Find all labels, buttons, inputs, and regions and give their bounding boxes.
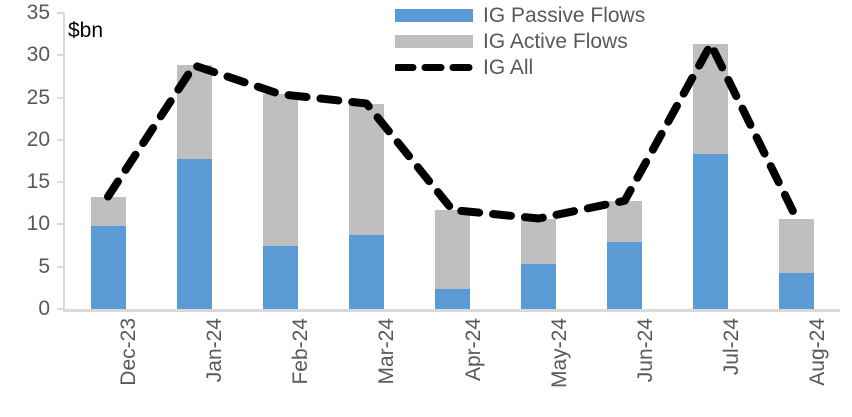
bar-group (607, 201, 642, 309)
y-tick-label: 25 (4, 87, 50, 108)
bar-segment-passive (779, 273, 814, 309)
x-tick-label: Aug-24 (807, 318, 828, 386)
x-tick-label: Jan-24 (204, 318, 225, 382)
bar-group (693, 44, 728, 309)
bar-segment-active (177, 65, 212, 159)
bar-segment-active (693, 44, 728, 154)
bar-segment-active (349, 104, 384, 235)
y-tick-label: 10 (4, 213, 50, 234)
bar-segment-passive (521, 264, 556, 309)
bar-segment-active (607, 201, 642, 242)
legend-item-ig-passive-flows: IG Passive Flows (395, 2, 695, 28)
x-tick-label: Mar-24 (376, 318, 397, 385)
bar-segment-passive (177, 159, 212, 309)
chart-legend: IG Passive Flows IG Active Flows IG All (395, 2, 695, 80)
x-tick-label: Feb-24 (290, 318, 311, 385)
bar-segment-passive (263, 246, 298, 309)
bar-group (779, 219, 814, 309)
bar-group (435, 210, 470, 309)
x-tick-label: Dec-23 (118, 318, 139, 386)
y-tick-label: 30 (4, 44, 50, 65)
bar-segment-passive (91, 226, 126, 309)
y-tick-label: 20 (4, 129, 50, 150)
x-tick-label: May-24 (549, 318, 570, 388)
bar-group (521, 219, 556, 309)
bar-segment-passive (435, 289, 470, 309)
x-tick-label: Jul-24 (721, 318, 742, 375)
bar-segment-active (263, 94, 298, 246)
bar-segment-passive (693, 154, 728, 309)
bar-group (349, 104, 384, 310)
bar-segment-passive (607, 242, 642, 309)
legend-swatch-gray-icon (395, 35, 473, 48)
bar-segment-active (779, 219, 814, 273)
bar-group (177, 65, 212, 309)
bar-segment-active (521, 219, 556, 265)
x-axis-line (63, 309, 840, 312)
legend-item-ig-active-flows: IG Active Flows (395, 28, 695, 54)
legend-label: IG Passive Flows (483, 5, 645, 26)
bar-group (91, 197, 126, 309)
legend-label: IG Active Flows (483, 31, 628, 52)
x-tick-label: Apr-24 (463, 318, 484, 381)
y-tick-label: 0 (4, 298, 50, 319)
legend-label: IG All (483, 57, 533, 78)
y-tick-label: 35 (4, 2, 50, 23)
bar-segment-active (435, 210, 470, 289)
y-tick-label: 5 (4, 256, 50, 277)
x-tick-label: Jun-24 (635, 318, 656, 382)
y-tick-label: 15 (4, 171, 50, 192)
bar-group (263, 94, 298, 309)
bar-segment-passive (349, 235, 384, 309)
legend-swatch-blue-icon (395, 9, 473, 22)
legend-dashed-line-icon (395, 61, 473, 74)
bar-segment-active (91, 197, 126, 227)
chart-container: 35302520151050 $bn Dec-23Jan-24Feb-24Mar… (0, 0, 852, 417)
legend-item-ig-all: IG All (395, 54, 695, 80)
